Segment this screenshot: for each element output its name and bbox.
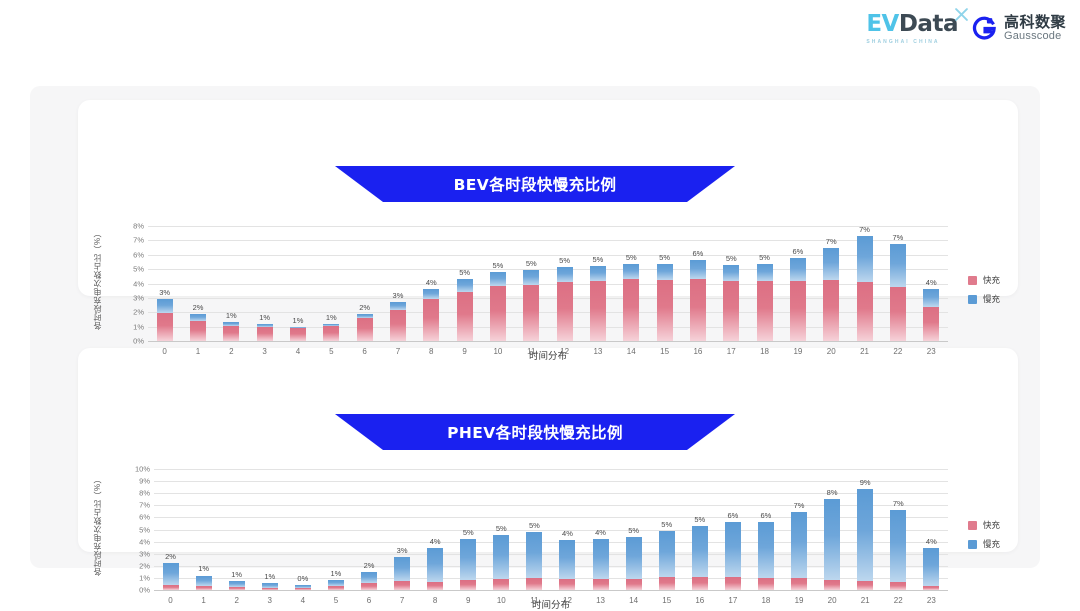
bar-value-label: 7%	[794, 501, 805, 510]
x-axis-tick: 0	[162, 347, 166, 356]
bar-segment-fast[interactable]	[657, 280, 673, 341]
bar-slot[interactable]: 1%2	[215, 226, 248, 341]
stacked-bar[interactable]	[657, 264, 673, 341]
bar-value-label: 6%	[692, 249, 703, 258]
gausscode-en-name: Gausscode	[1004, 31, 1066, 43]
bar-slot[interactable]: 5%12	[548, 226, 581, 341]
stacked-bar[interactable]	[262, 583, 278, 590]
bar-slot[interactable]: 4%8	[415, 226, 448, 341]
bar-segment-slow[interactable]	[723, 265, 739, 282]
bar-segment-fast[interactable]	[493, 579, 509, 590]
bar-segment-slow[interactable]	[361, 572, 377, 583]
bar-slot[interactable]: 4%8	[419, 469, 452, 590]
bar-segment-slow[interactable]	[690, 260, 706, 279]
bar-segment-slow[interactable]	[790, 258, 806, 281]
bar-slot[interactable]: 2%6	[352, 469, 385, 590]
bar-segment-fast[interactable]	[163, 585, 179, 590]
y-axis-tick-bev: 2%	[118, 308, 144, 317]
bar-slot[interactable]: 6%18	[749, 469, 782, 590]
stacked-bar[interactable]	[323, 324, 339, 341]
x-axis-tick: 6	[362, 347, 366, 356]
bar-value-label: 4%	[562, 529, 573, 538]
bar-segment-fast[interactable]	[357, 318, 373, 341]
x-axis-tick: 13	[593, 347, 602, 356]
bar-segment-slow[interactable]	[857, 236, 873, 282]
x-axis-tick: 6	[367, 596, 371, 605]
bar-segment-slow[interactable]	[890, 244, 906, 287]
bar-segment-slow[interactable]	[196, 576, 212, 587]
x-axis-tick: 14	[629, 596, 638, 605]
bar-segment-fast[interactable]	[725, 577, 741, 590]
bar-slot[interactable]: 5%18	[748, 226, 781, 341]
bar-segment-fast[interactable]	[257, 327, 273, 341]
x-axis-tick: 22	[894, 596, 903, 605]
bar-slot[interactable]: 6%17	[716, 469, 749, 590]
bar-value-label: 5%	[659, 253, 670, 262]
stacked-bar[interactable]	[923, 548, 939, 590]
bar-value-label: 6%	[792, 247, 803, 256]
bar-slot[interactable]: 1%1	[187, 469, 220, 590]
x-axis-tick: 23	[927, 347, 936, 356]
bar-segment-slow[interactable]	[163, 563, 179, 585]
stacked-bar[interactable]	[890, 244, 906, 341]
bar-segment-fast[interactable]	[557, 282, 573, 341]
x-axis-tick: 21	[860, 347, 869, 356]
y-axis-tick-phev: 10%	[124, 465, 150, 474]
stacked-bar[interactable]	[590, 266, 606, 341]
stacked-bar[interactable]	[723, 265, 739, 341]
stacked-bar[interactable]	[626, 537, 642, 590]
bar-segment-fast[interactable]	[328, 586, 344, 590]
chart-title-banner-bev: BEV各时段快慢充比例	[335, 166, 735, 202]
bar-slot[interactable]: 0%4	[286, 469, 319, 590]
bar-segment-fast[interactable]	[757, 281, 773, 341]
bar-slot[interactable]: 2%1	[181, 226, 214, 341]
bar-slot[interactable]: 3%0	[148, 226, 181, 341]
legend-label: 慢充	[983, 293, 1000, 305]
bar-value-label: 5%	[463, 528, 474, 537]
bar-segment-slow[interactable]	[557, 267, 573, 282]
bar-group-bev: 3%02%11%21%31%41%52%63%74%85%95%105%115%…	[148, 226, 948, 341]
gridline-phev	[154, 590, 948, 591]
bar-group-phev: 2%01%11%21%30%41%52%63%74%85%95%105%114%…	[154, 469, 948, 590]
bar-segment-slow[interactable]	[757, 264, 773, 281]
x-axis-tick: 13	[596, 596, 605, 605]
x-axis-tick: 10	[493, 347, 502, 356]
bar-segment-slow[interactable]	[758, 522, 774, 578]
stacked-bar[interactable]	[526, 532, 542, 590]
stacked-bar[interactable]	[163, 563, 179, 590]
y-axis-tick-bev: 7%	[118, 236, 144, 245]
bar-segment-slow[interactable]	[890, 510, 906, 583]
bar-segment-slow[interactable]	[626, 537, 642, 578]
bar-value-label: 4%	[430, 537, 441, 546]
stacked-bar[interactable]	[290, 327, 306, 341]
bar-slot[interactable]: 9%21	[849, 469, 882, 590]
stacked-bar[interactable]	[196, 576, 212, 591]
bar-segment-fast[interactable]	[423, 299, 439, 341]
y-axis-tick-phev: 7%	[124, 501, 150, 510]
stacked-bar[interactable]	[557, 267, 573, 341]
bar-segment-slow[interactable]	[390, 302, 406, 310]
bar-segment-fast[interactable]	[758, 578, 774, 590]
stacked-bar[interactable]	[791, 512, 807, 590]
legend-item[interactable]: 快充	[968, 519, 1000, 531]
bar-segment-fast[interactable]	[690, 279, 706, 341]
legend-swatch-icon	[968, 521, 977, 530]
stacked-bar[interactable]	[823, 248, 839, 341]
bar-segment-slow[interactable]	[427, 548, 443, 581]
x-axis-tick: 16	[693, 347, 702, 356]
bar-segment-slow[interactable]	[523, 270, 539, 285]
x-axis-tick: 9	[466, 596, 470, 605]
stacked-bar[interactable]	[427, 548, 443, 590]
bar-slot[interactable]: 5%17	[715, 226, 748, 341]
legend-item[interactable]: 慢充	[968, 538, 1000, 550]
x-axis-tick: 23	[927, 596, 936, 605]
x-axis-tick: 15	[662, 596, 671, 605]
bar-segment-fast[interactable]	[923, 307, 939, 341]
bar-value-label: 7%	[892, 233, 903, 242]
bar-slot[interactable]: 1%5	[315, 226, 348, 341]
bar-slot[interactable]: 5%9	[448, 226, 481, 341]
bar-segment-fast[interactable]	[890, 287, 906, 341]
evdata-tagline: SHANGHAI CHINA	[866, 39, 939, 45]
stacked-bar[interactable]	[690, 260, 706, 341]
bar-segment-fast[interactable]	[223, 326, 239, 341]
bar-value-label: 4%	[426, 278, 437, 287]
bar-segment-fast[interactable]	[290, 328, 306, 341]
bar-segment-fast[interactable]	[394, 581, 410, 590]
bar-segment-fast[interactable]	[593, 579, 609, 590]
bar-segment-slow[interactable]	[457, 279, 473, 292]
x-axis-tick: 3	[268, 596, 272, 605]
y-axis-label-phev: 各时段充电次数占比（%）	[92, 467, 103, 583]
legend-swatch-icon	[968, 276, 977, 285]
stacked-bar[interactable]	[361, 572, 377, 590]
bar-slot[interactable]: 5%10	[485, 469, 518, 590]
y-axis-tick-bev: 8%	[118, 222, 144, 231]
y-axis-tick-phev: 5%	[124, 525, 150, 534]
bar-segment-slow[interactable]	[824, 499, 840, 580]
stacked-bar[interactable]	[757, 264, 773, 341]
bar-slot[interactable]: 6%16	[681, 226, 714, 341]
bar-value-label: 3%	[393, 291, 404, 300]
stacked-bar[interactable]	[493, 535, 509, 590]
stacked-bar[interactable]	[257, 324, 273, 341]
bar-value-label: 3%	[159, 288, 170, 297]
bar-slot[interactable]: 5%11	[515, 226, 548, 341]
x-axis-tick: 4	[296, 347, 300, 356]
bar-value-label: 2%	[359, 303, 370, 312]
evdata-wordmark: EVData	[866, 13, 958, 36]
stacked-bar[interactable]	[295, 585, 311, 590]
x-axis-tick: 1	[201, 596, 205, 605]
bar-value-label: 4%	[926, 537, 937, 546]
y-axis-tick-phev: 8%	[124, 489, 150, 498]
bar-segment-slow[interactable]	[590, 266, 606, 281]
y-axis-tick-phev: 6%	[124, 513, 150, 522]
bar-slot[interactable]: 7%19	[782, 469, 815, 590]
bar-slot[interactable]: 5%9	[452, 469, 485, 590]
bar-slot[interactable]: 5%14	[617, 469, 650, 590]
bar-slot[interactable]: 5%11	[518, 469, 551, 590]
bar-slot[interactable]: 4%12	[551, 469, 584, 590]
bar-value-label: 2%	[364, 561, 375, 570]
chart-title-banner-phev: PHEV各时段快慢充比例	[335, 414, 735, 450]
x-axis-tick: 4	[301, 596, 305, 605]
bar-slot[interactable]: 1%4	[281, 226, 314, 341]
bar-segment-slow[interactable]	[623, 264, 639, 279]
bar-slot[interactable]: 5%15	[650, 469, 683, 590]
bar-segment-fast[interactable]	[361, 583, 377, 590]
stacked-bar[interactable]	[923, 289, 939, 341]
bar-slot[interactable]: 2%0	[154, 469, 187, 590]
x-axis-tick: 16	[695, 596, 704, 605]
bar-slot[interactable]: 1%3	[253, 469, 286, 590]
bar-segment-slow[interactable]	[692, 526, 708, 577]
x-axis-tick: 17	[728, 596, 737, 605]
bar-value-label: 5%	[694, 515, 705, 524]
stacked-bar[interactable]	[857, 236, 873, 341]
x-axis-tick: 7	[396, 347, 400, 356]
stacked-bar[interactable]	[725, 522, 741, 590]
x-axis-tick: 3	[262, 347, 266, 356]
bar-segment-slow[interactable]	[725, 522, 741, 577]
bar-segment-fast[interactable]	[323, 326, 339, 341]
x-axis-tick: 18	[761, 596, 770, 605]
stacked-bar[interactable]	[890, 510, 906, 590]
legend-bev: 快充慢充	[968, 274, 1000, 305]
bar-value-label: 1%	[264, 572, 275, 581]
bar-segment-slow[interactable]	[791, 512, 807, 578]
y-axis-tick-phev: 0%	[124, 586, 150, 595]
bar-value-label: 1%	[231, 570, 242, 579]
legend-swatch-icon	[968, 295, 977, 304]
x-axis-tick: 18	[760, 347, 769, 356]
bar-segment-slow[interactable]	[923, 289, 939, 308]
bar-segment-slow[interactable]	[593, 539, 609, 579]
bar-slot[interactable]: 4%13	[584, 469, 617, 590]
bar-segment-fast[interactable]	[229, 587, 245, 590]
x-axis-tick: 17	[727, 347, 736, 356]
x-axis-tick: 20	[827, 347, 836, 356]
bar-segment-slow[interactable]	[823, 248, 839, 280]
bar-segment-slow[interactable]	[423, 289, 439, 300]
bar-segment-fast[interactable]	[824, 580, 840, 590]
bar-value-label: 5%	[459, 268, 470, 277]
bar-segment-slow[interactable]	[923, 548, 939, 586]
bar-segment-fast[interactable]	[490, 286, 506, 341]
bar-value-label: 5%	[526, 259, 537, 268]
bar-value-label: 1%	[226, 311, 237, 320]
bar-value-label: 6%	[727, 511, 738, 520]
bar-segment-fast[interactable]	[890, 582, 906, 590]
stacked-bar[interactable]	[790, 258, 806, 341]
stacked-bar[interactable]	[328, 580, 344, 590]
bar-segment-fast[interactable]	[692, 577, 708, 590]
legend-swatch-icon	[968, 540, 977, 549]
legend-item[interactable]: 快充	[968, 274, 1000, 286]
stacked-bar[interactable]	[229, 581, 245, 590]
legend-item[interactable]: 慢充	[968, 293, 1000, 305]
bar-segment-slow[interactable]	[493, 535, 509, 579]
bar-segment-fast[interactable]	[626, 579, 642, 590]
x-axis-tick: 22	[893, 347, 902, 356]
bar-slot[interactable]: 1%3	[248, 226, 281, 341]
bar-slot[interactable]: 5%10	[481, 226, 514, 341]
content-panel: BEV各时段快慢充比例 PHEV各时段快慢充比例 各时段充电次数占比（%） 时间…	[30, 86, 1040, 568]
bar-segment-fast[interactable]	[857, 282, 873, 341]
bar-slot[interactable]: 7%22	[881, 226, 914, 341]
bar-segment-slow[interactable]	[460, 539, 476, 580]
bar-segment-fast[interactable]	[523, 285, 539, 341]
bar-segment-fast[interactable]	[559, 579, 575, 590]
x-axis-tick: 14	[627, 347, 636, 356]
bar-slot[interactable]: 4%23	[915, 469, 948, 590]
bar-slot[interactable]: 1%5	[319, 469, 352, 590]
bar-segment-fast[interactable]	[262, 588, 278, 590]
evdata-ev-text: EV	[866, 11, 899, 37]
stacked-bar[interactable]	[357, 314, 373, 341]
stacked-bar[interactable]	[659, 531, 675, 590]
bar-segment-slow[interactable]	[559, 540, 575, 579]
stacked-bar[interactable]	[457, 279, 473, 341]
logo-group: EVData SHANGHAI CHINA 高科数聚 Gausscode	[866, 13, 1066, 45]
x-axis-tick: 10	[497, 596, 506, 605]
bar-segment-slow[interactable]	[659, 531, 675, 576]
stacked-bar[interactable]	[390, 302, 406, 341]
x-axis-tick: 1	[196, 347, 200, 356]
bar-segment-slow[interactable]	[490, 272, 506, 286]
bar-segment-slow[interactable]	[657, 264, 673, 280]
gausscode-logo: 高科数聚 Gausscode	[972, 15, 1066, 42]
bar-segment-fast[interactable]	[791, 578, 807, 590]
stacked-bar[interactable]	[490, 272, 506, 341]
bar-value-label: 5%	[726, 254, 737, 263]
bar-value-label: 4%	[926, 278, 937, 287]
bar-value-label: 5%	[529, 521, 540, 530]
bar-segment-fast[interactable]	[923, 586, 939, 590]
bar-slot[interactable]: 3%7	[386, 469, 419, 590]
stacked-bar[interactable]	[824, 499, 840, 590]
bar-slot[interactable]: 2%6	[348, 226, 381, 341]
x-axis-tick: 2	[234, 596, 238, 605]
bar-slot[interactable]: 8%20	[816, 469, 849, 590]
x-mark-icon	[955, 8, 968, 21]
bar-value-label: 5%	[559, 256, 570, 265]
x-axis-tick: 9	[462, 347, 466, 356]
bar-value-label: 7%	[893, 499, 904, 508]
x-axis-tick: 5	[334, 596, 338, 605]
bar-segment-fast[interactable]	[623, 279, 639, 341]
bar-segment-fast[interactable]	[190, 321, 206, 341]
bar-value-label: 1%	[293, 316, 304, 325]
bar-segment-fast[interactable]	[526, 578, 542, 590]
stacked-bar[interactable]	[394, 557, 410, 590]
bar-slot[interactable]: 5%14	[615, 226, 648, 341]
legend-phev: 快充慢充	[968, 519, 1000, 550]
evdata-logo: EVData SHANGHAI CHINA	[866, 13, 958, 45]
bar-value-label: 5%	[496, 524, 507, 533]
bar-slot[interactable]: 3%7	[381, 226, 414, 341]
stacked-bar[interactable]	[460, 539, 476, 590]
stacked-bar[interactable]	[758, 522, 774, 590]
y-axis-tick-phev: 1%	[124, 573, 150, 582]
x-axis-tick: 12	[563, 596, 572, 605]
bar-segment-fast[interactable]	[659, 577, 675, 590]
stacked-bar[interactable]	[623, 264, 639, 341]
bar-slot[interactable]: 5%13	[581, 226, 614, 341]
bar-segment-fast[interactable]	[590, 281, 606, 341]
stacked-bar[interactable]	[857, 489, 873, 590]
bar-slot[interactable]: 7%21	[848, 226, 881, 341]
y-axis-label-bev: 各时段充电次数占比（%）	[92, 224, 103, 334]
x-axis-tick: 11	[527, 347, 535, 356]
bar-segment-fast[interactable]	[723, 281, 739, 341]
bar-value-label: 2%	[193, 303, 204, 312]
bar-segment-fast[interactable]	[790, 281, 806, 341]
stacked-bar[interactable]	[559, 540, 575, 590]
bar-slot[interactable]: 7%20	[815, 226, 848, 341]
bar-segment-fast[interactable]	[823, 280, 839, 341]
bar-segment-fast[interactable]	[295, 588, 311, 590]
bar-segment-slow[interactable]	[526, 532, 542, 578]
bar-segment-fast[interactable]	[390, 310, 406, 341]
stacked-bar[interactable]	[523, 270, 539, 341]
bar-value-label: 4%	[595, 528, 606, 537]
y-axis-tick-bev: 1%	[118, 322, 144, 331]
bar-value-label: 7%	[859, 225, 870, 234]
bar-slot[interactable]: 5%15	[648, 226, 681, 341]
x-axis-tick: 15	[660, 347, 669, 356]
plot-area-bev: 各时段充电次数占比（%） 时间分布 0%1%2%3%4%5%6%7%8%3%02…	[148, 226, 948, 341]
bar-segment-slow[interactable]	[157, 299, 173, 313]
bar-slot[interactable]: 7%22	[882, 469, 915, 590]
bar-segment-fast[interactable]	[457, 292, 473, 341]
stacked-bar[interactable]	[692, 526, 708, 590]
bar-slot[interactable]: 1%2	[220, 469, 253, 590]
stacked-bar[interactable]	[423, 289, 439, 341]
bar-segment-slow[interactable]	[857, 489, 873, 581]
bar-segment-fast[interactable]	[427, 582, 443, 590]
x-axis-tick: 7	[400, 596, 404, 605]
bar-slot[interactable]: 6%19	[781, 226, 814, 341]
bar-value-label: 0%	[297, 574, 308, 583]
y-axis-tick-phev: 9%	[124, 477, 150, 486]
legend-label: 快充	[983, 519, 1000, 531]
stacked-bar[interactable]	[223, 322, 239, 341]
y-axis-tick-bev: 6%	[118, 250, 144, 259]
y-axis-tick-phev: 4%	[124, 537, 150, 546]
bar-segment-fast[interactable]	[196, 586, 212, 590]
bar-segment-slow[interactable]	[394, 557, 410, 581]
bar-segment-fast[interactable]	[857, 581, 873, 590]
bar-value-label: 5%	[759, 253, 770, 262]
bar-value-label: 5%	[628, 526, 639, 535]
bar-value-label: 5%	[593, 255, 604, 264]
bar-segment-fast[interactable]	[460, 580, 476, 590]
gausscode-text: 高科数聚 Gausscode	[1004, 15, 1066, 42]
bar-segment-fast[interactable]	[157, 313, 173, 341]
bar-value-label: 7%	[826, 237, 837, 246]
bar-slot[interactable]: 5%16	[683, 469, 716, 590]
stacked-bar[interactable]	[190, 314, 206, 341]
bar-slot[interactable]: 4%23	[915, 226, 948, 341]
stacked-bar[interactable]	[157, 299, 173, 341]
stacked-bar[interactable]	[593, 539, 609, 590]
gausscode-mark-icon	[972, 16, 997, 41]
